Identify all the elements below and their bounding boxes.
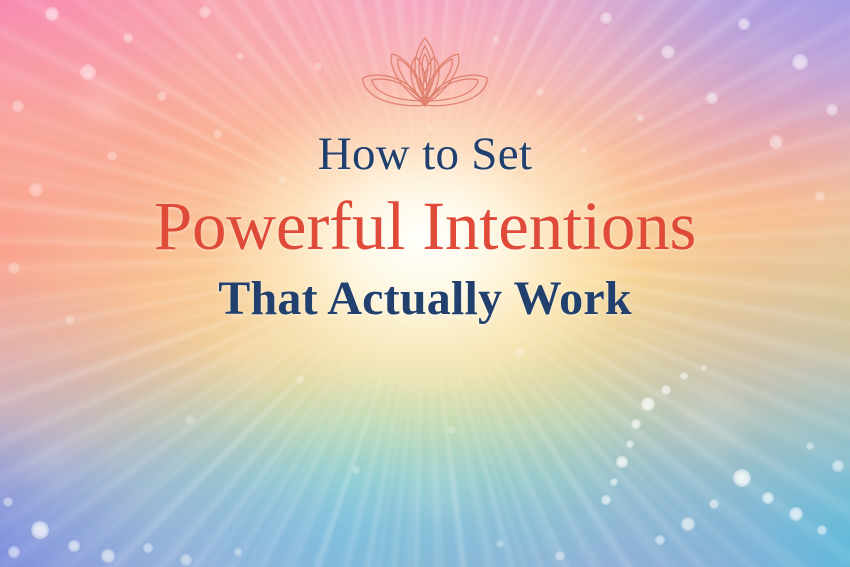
lotus-icon — [360, 33, 490, 111]
headline-line-1: How to Set — [0, 126, 850, 182]
headline-block: How to Set Powerful Intentions That Actu… — [0, 126, 850, 328]
intention-banner: How to Set Powerful Intentions That Actu… — [0, 0, 850, 567]
headline-line-2: Powerful Intentions — [0, 182, 850, 270]
headline-line-3: That Actually Work — [0, 270, 850, 328]
